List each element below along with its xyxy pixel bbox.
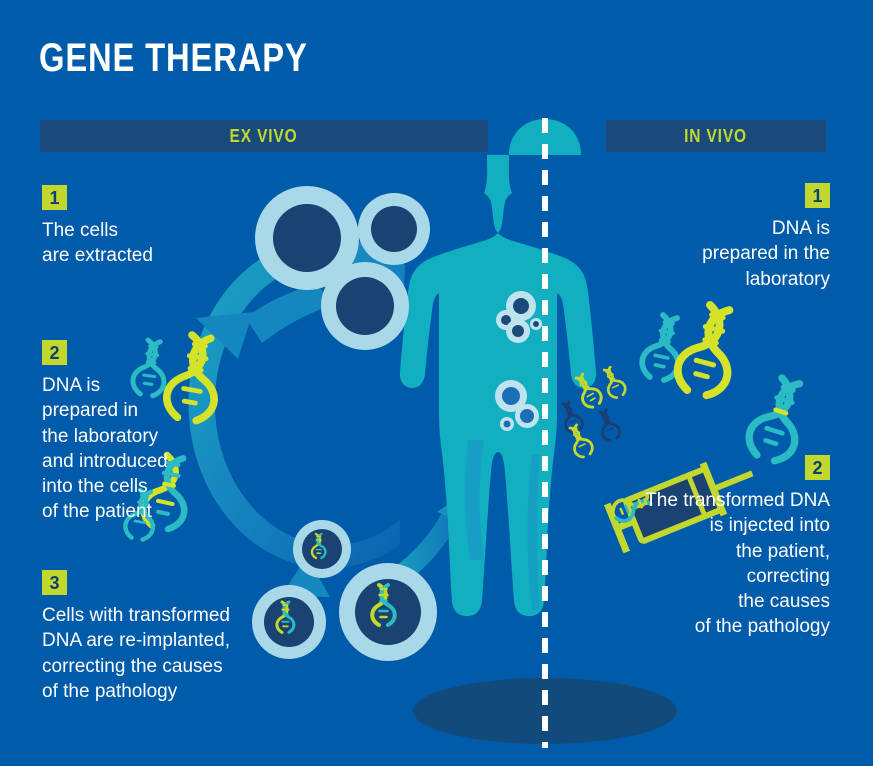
step-ex-vivo-2: 2 DNA is prepared in the laboratory and … bbox=[42, 340, 222, 525]
text-layer: GENE THERAPY EX VIVO IN VIVO 1 The cells… bbox=[0, 0, 873, 766]
step-description: The cells are extracted bbox=[42, 218, 272, 269]
step-badge-number: 3 bbox=[42, 570, 67, 595]
infographic-canvas: GENE THERAPY EX VIVO IN VIVO 1 The cells… bbox=[0, 0, 873, 766]
step-badge-number: 2 bbox=[42, 340, 67, 365]
page-title: GENE THERAPY bbox=[39, 36, 308, 81]
step-description: The transformed DNA is injected into the… bbox=[596, 488, 830, 640]
section-header-in-vivo-label: IN VIVO bbox=[685, 126, 748, 147]
step-in-vivo-1: 1 DNA is prepared in the laboratory bbox=[640, 183, 830, 292]
step-badge-number: 1 bbox=[42, 185, 67, 210]
step-badge-number: 1 bbox=[805, 183, 830, 208]
step-badge-number: 2 bbox=[805, 455, 830, 480]
section-header-ex-vivo-label: EX VIVO bbox=[230, 126, 298, 147]
step-ex-vivo-3: 3 Cells with transformed DNA are re-impl… bbox=[42, 570, 292, 704]
step-in-vivo-2: 2 The transformed DNA is injected into t… bbox=[596, 455, 830, 640]
section-header-in-vivo: IN VIVO bbox=[606, 120, 826, 152]
step-description: DNA is prepared in the laboratory and in… bbox=[42, 373, 222, 525]
step-description: DNA is prepared in the laboratory bbox=[640, 216, 830, 292]
step-ex-vivo-1: 1 The cells are extracted bbox=[42, 185, 272, 269]
step-description: Cells with transformed DNA are re-implan… bbox=[42, 603, 292, 704]
section-header-ex-vivo: EX VIVO bbox=[40, 120, 488, 152]
